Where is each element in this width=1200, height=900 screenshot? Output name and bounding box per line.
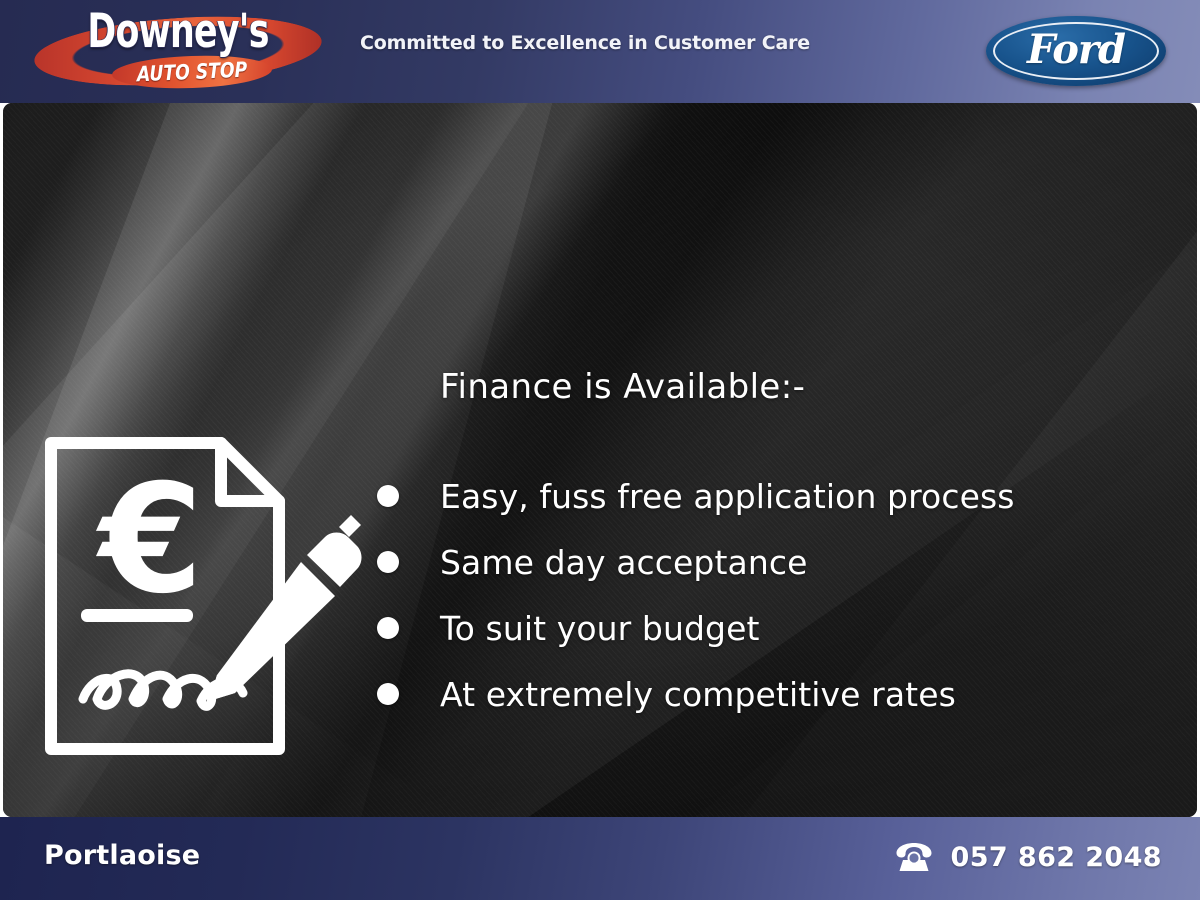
bullet-dot-icon xyxy=(377,551,399,573)
phone-contact[interactable]: 057 862 2048 xyxy=(894,841,1162,873)
list-item: Easy, fuss free application process xyxy=(377,463,1177,529)
list-item-label: At extremely competitive rates xyxy=(440,675,956,714)
list-item: To suit your budget xyxy=(377,595,1177,661)
downeys-logo[interactable]: Downey's AUTO STOP xyxy=(28,4,328,96)
downeys-logo-subtitle: AUTO STOP xyxy=(126,55,258,89)
footer-bar: Portlaoise 057 862 2048 xyxy=(0,817,1200,900)
page-title: Finance is Available:- xyxy=(440,367,805,407)
svg-text:€: € xyxy=(96,453,203,627)
bullet-dot-icon xyxy=(377,617,399,639)
list-item-label: Same day acceptance xyxy=(440,543,807,582)
list-item: At extremely competitive rates xyxy=(377,661,1177,727)
telephone-icon xyxy=(894,841,934,873)
ford-logo[interactable]: Ford xyxy=(986,16,1166,86)
phone-number: 057 862 2048 xyxy=(951,842,1162,873)
downeys-logo-name: Downey's xyxy=(67,6,289,58)
location-label: Portlaoise xyxy=(44,840,200,871)
header-bar: Downey's AUTO STOP Committed to Excellen… xyxy=(0,0,1200,103)
document-euro-signature-pen-icon: € xyxy=(39,431,369,761)
benefits-list: Easy, fuss free application process Same… xyxy=(377,463,1177,727)
list-item: Same day acceptance xyxy=(377,529,1177,595)
list-item-label: Easy, fuss free application process xyxy=(440,477,1015,516)
ford-logo-name: Ford xyxy=(986,16,1166,86)
bullet-dot-icon xyxy=(377,485,399,507)
tagline: Committed to Excellence in Customer Care xyxy=(360,32,810,54)
main-panel: € Finance is Available:- Easy, fuss free… xyxy=(3,103,1197,817)
bullet-dot-icon xyxy=(377,683,399,705)
list-item-label: To suit your budget xyxy=(440,609,760,648)
dealership-finance-banner: Downey's AUTO STOP Committed to Excellen… xyxy=(0,0,1200,900)
